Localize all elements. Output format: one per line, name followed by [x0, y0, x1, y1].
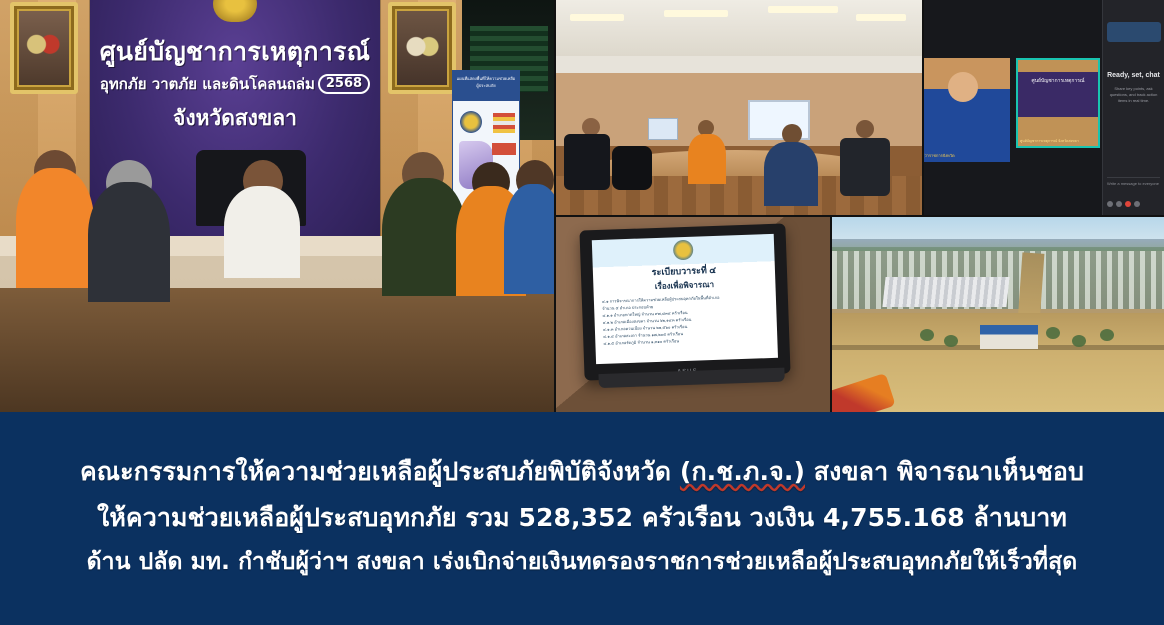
news-graphic-card: ศูนย์บัญชาการเหตุการณ์ อุทกภัย วาตภัย แล…	[0, 0, 1164, 625]
caption-line-1: คณะกรรมการให้ความช่วยเหลือผู้ประสบภัยพิบ…	[80, 452, 1084, 492]
video-tile-room[interactable]: ศูนย์บัญชาการเหตุการณ์ ศูนย์บัญชาการเหตุ…	[1016, 58, 1100, 148]
attendee-seated	[564, 134, 610, 190]
ceiling-lamp	[570, 14, 624, 21]
panel-press-conference: ศูนย์บัญชาการเหตุการณ์ อุทกภัย วาตภัย แล…	[0, 0, 554, 412]
chairman-body	[224, 186, 300, 278]
committee-abbreviation: (ก.ช.ภ.จ.)	[680, 457, 805, 486]
caption-line-2: ให้ความช่วยเหลือผู้ประสบอุทกภัย รวม 528,…	[97, 498, 1067, 538]
ceiling-lamp	[664, 10, 728, 17]
panel-aerial-flood	[832, 217, 1164, 412]
attendee-body	[16, 168, 94, 288]
portrait-art-right	[397, 11, 447, 85]
chat-notice-bubble	[1107, 22, 1161, 42]
garuda-emblem-icon	[213, 0, 257, 22]
tree	[920, 329, 934, 341]
office-chair	[612, 146, 652, 190]
attendee-body	[88, 182, 170, 302]
attendee-blue-vest	[764, 142, 818, 206]
backdrop-line-2: อุทกภัย วาตภัย และดินโคลนถล่ม2568	[90, 72, 380, 96]
mic-icon[interactable]	[1107, 201, 1113, 207]
caption-line-1-part-b: สงขลา พิจารณาเห็นชอบ	[805, 457, 1084, 486]
attendee-head	[782, 124, 802, 144]
chat-message-input[interactable]: Write a message to everyone	[1107, 177, 1160, 189]
ceiling-lamp	[768, 6, 838, 13]
tree	[1072, 335, 1086, 347]
warehouse-roofs	[882, 277, 1009, 307]
video-tile-room-backdrop-text: ศูนย์บัญชาการเหตุการณ์	[1018, 78, 1098, 85]
speaker-face	[948, 72, 978, 102]
tree	[1046, 327, 1060, 339]
backdrop-line-3: จังหวัดสงขลา	[90, 102, 380, 135]
caption-line-1-part-a: คณะกรรมการให้ความช่วยเหลือผู้ประสบภัยพิบ…	[80, 457, 680, 486]
caption-line-3: ด้าน ปลัด มท. กำชับผู้ว่าฯ สงขลา เร่งเบิ…	[87, 544, 1078, 580]
backdrop-year-badge: 2568	[318, 74, 370, 94]
presentation-slide: ระเบียบวาระที่ ๔ เรื่องเพื่อพิจารณา ๔.๑ …	[592, 234, 778, 364]
royal-portrait-frame-left	[10, 2, 78, 94]
attendee-head	[856, 120, 874, 138]
attendee-body	[382, 178, 466, 296]
attendee-seated	[840, 138, 890, 196]
panel-meeting-room	[556, 0, 922, 215]
video-tile-speaker-label: ผู้ว่าราชการจังหวัด	[924, 152, 955, 159]
ceiling	[556, 0, 922, 56]
record-icon[interactable]	[1125, 201, 1131, 207]
photo-collage: ศูนย์บัญชาการเหตุการณ์ อุทกภัย วาตภัย แล…	[0, 0, 1164, 412]
tree	[1100, 329, 1114, 341]
chat-panel-title: Ready, set, chat	[1103, 72, 1164, 79]
slide-body: ๔.๑ การพิจารณาการให้ความช่วยเหลือผู้ประส…	[602, 292, 772, 347]
backdrop-line-2-text: อุทกภัย วาตภัย และดินโคลนถล่ม	[100, 75, 315, 93]
laptop: ระเบียบวาระที่ ๔ เรื่องเพื่อพิจารณา ๔.๑ …	[579, 223, 790, 380]
rollup-banner-title: แผนที่แสดงพื้นที่ให้ความช่วยเหลือผู้ประส…	[456, 75, 516, 97]
caption-band: คณะกรรมการให้ความช่วยเหลือผู้ประสบภัยพิบ…	[0, 412, 1164, 625]
tree	[944, 335, 958, 347]
chat-panel-subtitle: Share key points, ask questions, and tra…	[1107, 86, 1160, 104]
government-seal-icon	[673, 240, 694, 261]
meeting-toolbar[interactable]	[1107, 199, 1160, 209]
chat-panel[interactable]: Ready, set, chat Share key points, ask q…	[1102, 0, 1164, 215]
video-tile-speaker[interactable]: ผู้ว่าราชการจังหวัด	[924, 58, 1010, 162]
panel-laptop-slide: ระเบียบวาระที่ ๔ เรื่องเพื่อพิจารณา ๔.๑ …	[556, 217, 830, 412]
more-icon[interactable]	[1134, 201, 1140, 207]
video-tile-room-label: ศูนย์บัญชาการเหตุการณ์ จังหวัดสงขลา	[1020, 138, 1079, 144]
blue-roof-building	[980, 325, 1038, 349]
rollup-seal-icon	[460, 111, 482, 133]
attendee-body	[504, 184, 554, 294]
panel-video-conference: ผู้ว่าราชการจังหวัด ศูนย์บัญชาการเหตุการ…	[924, 0, 1164, 215]
secondary-screen	[648, 118, 678, 140]
rollup-callout-box	[492, 143, 516, 155]
rollup-legend	[493, 113, 515, 133]
royal-portrait-frame-right	[388, 2, 456, 94]
camera-icon[interactable]	[1116, 201, 1122, 207]
laptop-base	[598, 368, 784, 388]
backdrop-line-1: ศูนย์บัญชาการเหตุการณ์	[90, 32, 380, 72]
attendee-orange-vest	[688, 134, 726, 184]
portrait-art-left	[19, 11, 69, 85]
ceiling-lamp	[856, 14, 906, 21]
